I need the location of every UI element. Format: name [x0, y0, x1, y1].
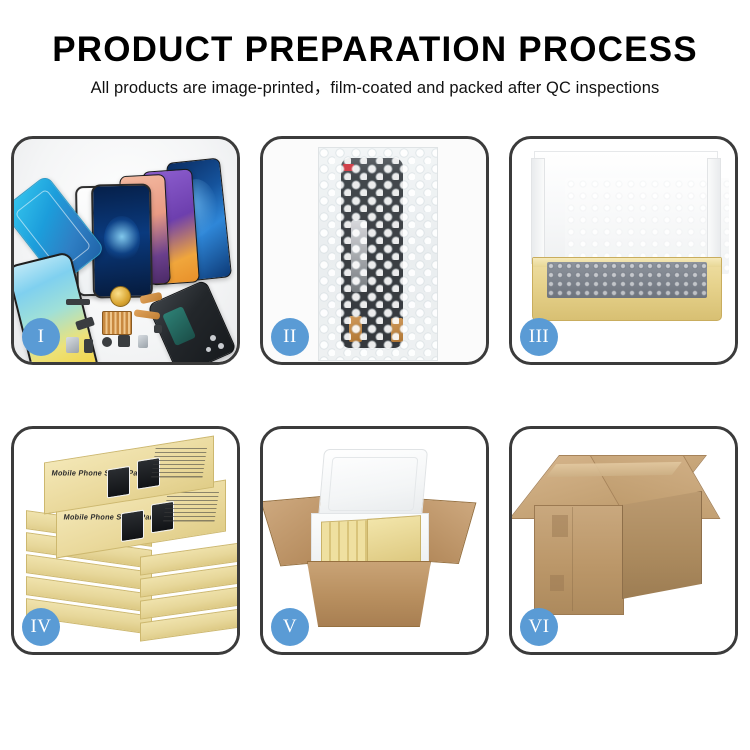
bubble-wrapped-contents: [547, 262, 707, 298]
carton-seam: [572, 507, 573, 611]
part-screw-1: [210, 335, 216, 341]
lid-spec-lines-second: [163, 492, 219, 522]
lid-screen-icon-c: [121, 510, 144, 543]
sealing-tape: [546, 462, 682, 477]
box-label-second: Mobile Phone Spare Parts: [63, 513, 161, 522]
step-card-3[interactable]: III: [509, 136, 738, 365]
bubble-texture: [319, 148, 437, 360]
page-title: PRODUCT PREPARATION PROCESS: [0, 30, 750, 70]
carton-tab-lower: [550, 575, 564, 591]
foam-lid: [318, 449, 428, 519]
box-stack: Mobile Phone Spare Parts Mobile Phone Sp…: [22, 447, 234, 641]
steps-grid: I II: [11, 136, 739, 655]
lid-spec-lines-top: [151, 448, 207, 478]
inner-box-tray: [532, 257, 722, 321]
step-card-6[interactable]: VI: [509, 426, 738, 655]
carton-tab-upper: [552, 515, 568, 537]
part-screw-2: [218, 343, 224, 349]
yellow-boxes-block: [367, 515, 421, 567]
step-badge-4: IV: [22, 608, 60, 646]
page-subtitle: All products are image-printed，film-coat…: [0, 78, 750, 98]
part-connector-grid: [102, 311, 132, 335]
carton-front-face: [534, 505, 624, 615]
part-battery-cell: [138, 335, 148, 348]
step-badge-2: II: [271, 318, 309, 356]
step-card-1[interactable]: I: [11, 136, 240, 365]
step-badge-3: III: [520, 318, 558, 356]
step-badge-1: I: [22, 318, 60, 356]
part-vibrator: [118, 335, 130, 347]
phone-jellyfish-screen: [91, 183, 153, 298]
part-home-button: [102, 337, 112, 347]
part-gold-coin: [110, 286, 131, 307]
step-card-4[interactable]: Mobile Phone Spare Parts Mobile Phone Sp…: [11, 426, 240, 655]
step-badge-6: VI: [520, 608, 558, 646]
step-card-5[interactable]: V: [260, 426, 489, 655]
box-label-top: Mobile Phone Spare Parts: [51, 469, 149, 478]
step-badge-5: V: [271, 608, 309, 646]
part-strip-1: [66, 299, 90, 305]
part-sim-tray: [66, 337, 79, 353]
lid-screen-icon-a: [107, 466, 130, 499]
part-screw-pack: [154, 325, 162, 333]
carton-body: [307, 561, 431, 627]
part-screw-3: [206, 347, 211, 352]
inner-box-lid: [534, 151, 718, 269]
header: PRODUCT PREPARATION PROCESS All products…: [0, 0, 750, 98]
product-preparation-infographic: PRODUCT PREPARATION PROCESS All products…: [0, 0, 750, 750]
bubble-wrap-bag: [318, 147, 438, 361]
step-card-2[interactable]: II: [260, 136, 489, 365]
carton-side-face: [622, 491, 702, 599]
part-speaker: [84, 339, 93, 353]
